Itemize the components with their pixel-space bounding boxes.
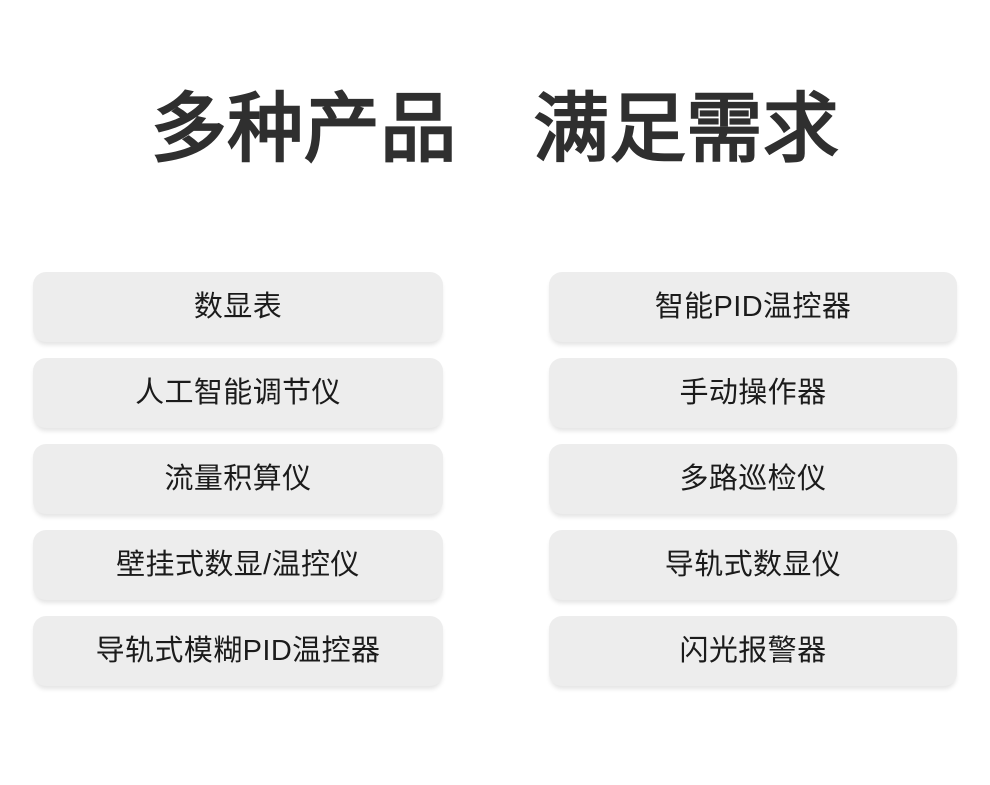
product-category-item[interactable]: 数显表 [33, 272, 443, 342]
product-category-banner: 多种产品 满足需求 数显表 人工智能调节仪 流量积算仪 壁挂式数显/温控仪 导轨… [0, 0, 990, 785]
product-category-label: 人工智能调节仪 [135, 376, 341, 410]
product-category-column-right: 智能PID温控器 手动操作器 多路巡检仪 导轨式数显仪 闪光报警器 [549, 272, 957, 686]
product-category-item[interactable]: 导轨式数显仪 [549, 530, 957, 600]
product-category-label: 导轨式数显仪 [665, 548, 841, 582]
page-title: 多种产品 满足需求 [0, 82, 990, 178]
product-category-label: 导轨式模糊PID温控器 [96, 634, 381, 668]
product-category-label: 闪光报警器 [679, 634, 826, 668]
product-category-item[interactable]: 智能PID温控器 [549, 272, 957, 342]
product-category-column-left: 数显表 人工智能调节仪 流量积算仪 壁挂式数显/温控仪 导轨式模糊PID温控器 [33, 272, 443, 686]
product-category-label: 数显表 [194, 290, 282, 324]
product-category-label: 流量积算仪 [164, 462, 311, 496]
product-category-item[interactable]: 多路巡检仪 [549, 444, 957, 514]
product-category-label: 手动操作器 [679, 376, 826, 410]
product-category-item[interactable]: 流量积算仪 [33, 444, 443, 514]
product-category-label: 多路巡检仪 [679, 462, 826, 496]
product-category-item[interactable]: 手动操作器 [549, 358, 957, 428]
product-category-item[interactable]: 导轨式模糊PID温控器 [33, 616, 443, 686]
product-category-item[interactable]: 闪光报警器 [549, 616, 957, 686]
product-category-item[interactable]: 人工智能调节仪 [33, 358, 443, 428]
product-category-grid: 数显表 人工智能调节仪 流量积算仪 壁挂式数显/温控仪 导轨式模糊PID温控器 … [0, 272, 990, 686]
product-category-item[interactable]: 壁挂式数显/温控仪 [33, 530, 443, 600]
product-category-label: 智能PID温控器 [655, 290, 852, 324]
product-category-label: 壁挂式数显/温控仪 [116, 548, 360, 582]
